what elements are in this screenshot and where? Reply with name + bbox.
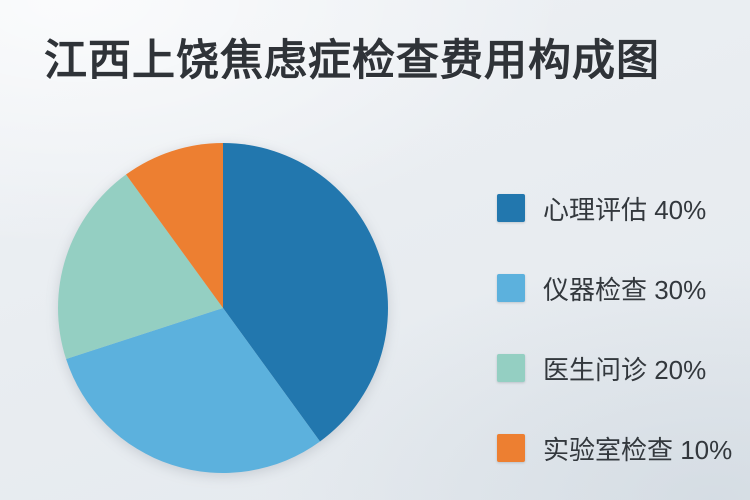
- chart-title: 江西上饶焦虑症检查费用构成图: [44, 38, 660, 85]
- legend-item-label: 实验室检查 10%: [543, 430, 732, 467]
- legend-item-doctor-consult[interactable]: 医生问诊 20%: [497, 350, 737, 386]
- legend-swatch-icon: [497, 354, 525, 382]
- legend-item-label: 仪器检查 30%: [543, 270, 706, 307]
- chart-page: 江西上饶焦虑症检查费用构成图 心理评估 40% 仪器检查 30% 医生问诊 20…: [0, 0, 750, 500]
- legend-swatch-icon: [497, 274, 525, 302]
- legend-swatch-icon: [497, 194, 525, 222]
- pie-chart-area: [48, 133, 398, 483]
- legend-item-psych-eval[interactable]: 心理评估 40%: [497, 190, 737, 226]
- legend-swatch-icon: [497, 434, 525, 462]
- legend-item-label: 心理评估 40%: [543, 190, 706, 227]
- legend-item-lab-test[interactable]: 实验室检查 10%: [497, 430, 737, 466]
- legend-item-label: 医生问诊 20%: [543, 350, 706, 387]
- legend-item-instrument-exam[interactable]: 仪器检查 30%: [497, 270, 737, 306]
- chart-legend: 心理评估 40% 仪器检查 30% 医生问诊 20% 实验室检查 10%: [497, 190, 737, 466]
- pie-chart: [48, 133, 398, 483]
